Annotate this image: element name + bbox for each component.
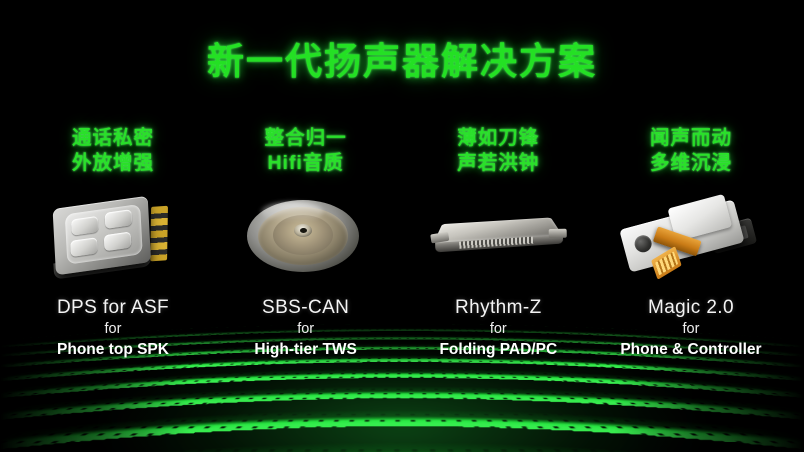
product-caption: Magic 2.0 for Phone & Controller (586, 296, 796, 360)
ultra-thin-flat-panel-speaker-icon (403, 186, 593, 290)
product-for-label: for (8, 320, 218, 339)
product-target: Phone top SPK (8, 339, 218, 360)
product-name: Magic 2.0 (586, 296, 796, 320)
column-headline: 薄如刀锋 声若洪钟 (457, 126, 539, 176)
slide-root: 新一代扬声器解决方案 通话私密 外放增强 (0, 0, 804, 452)
product-caption: SBS-CAN for High-tier TWS (201, 296, 411, 360)
column-headline: 整合归一 Hifi音质 (265, 126, 347, 176)
product-name: DPS for ASF (8, 296, 218, 320)
product-column-dps-for-asf: 通话私密 外放增强 (18, 126, 208, 360)
product-columns: 通话私密 外放增强 (0, 126, 804, 396)
headline-line-2: 多维沉浸 (650, 151, 732, 176)
headline-line-1: 闻声而动 (650, 126, 732, 151)
product-caption: Rhythm-Z for Folding PAD/PC (393, 296, 603, 360)
headline-line-1: 薄如刀锋 (457, 126, 539, 151)
headline-line-2: 声若洪钟 (457, 151, 539, 176)
product-column-magic-2: 闻声而动 多维沉浸 (596, 126, 786, 360)
product-target: Folding PAD/PC (393, 339, 603, 360)
product-target: Phone & Controller (586, 339, 796, 360)
column-headline: 闻声而动 多维沉浸 (650, 126, 732, 176)
round-diaphragm-driver-icon (211, 186, 401, 290)
headline-line-2: 外放增强 (72, 151, 154, 176)
module-with-orange-flex-cable-icon (596, 186, 786, 290)
product-name: Rhythm-Z (393, 296, 603, 320)
product-for-label: for (201, 320, 411, 339)
column-headline: 通话私密 外放增强 (72, 126, 154, 176)
product-target: High-tier TWS (201, 339, 411, 360)
headline-line-1: 整合归一 (265, 126, 347, 151)
headline-line-2: Hifi音质 (265, 151, 347, 176)
headline-line-1: 通话私密 (72, 126, 154, 151)
product-column-sbs-can: 整合归一 Hifi音质 SBS-CAN for High-tier TWS (211, 126, 401, 360)
gold-contact-pins-icon (150, 206, 168, 262)
product-name: SBS-CAN (201, 296, 411, 320)
page-title: 新一代扬声器解决方案 (0, 42, 804, 83)
product-for-label: for (586, 320, 796, 339)
rectangular-four-window-speaker-module-icon (18, 186, 208, 290)
product-for-label: for (393, 320, 603, 339)
product-caption: DPS for ASF for Phone top SPK (8, 296, 218, 360)
product-column-rhythm-z: 薄如刀锋 声若洪钟 Rhythm-Z for Folding PAD/PC (403, 126, 593, 360)
